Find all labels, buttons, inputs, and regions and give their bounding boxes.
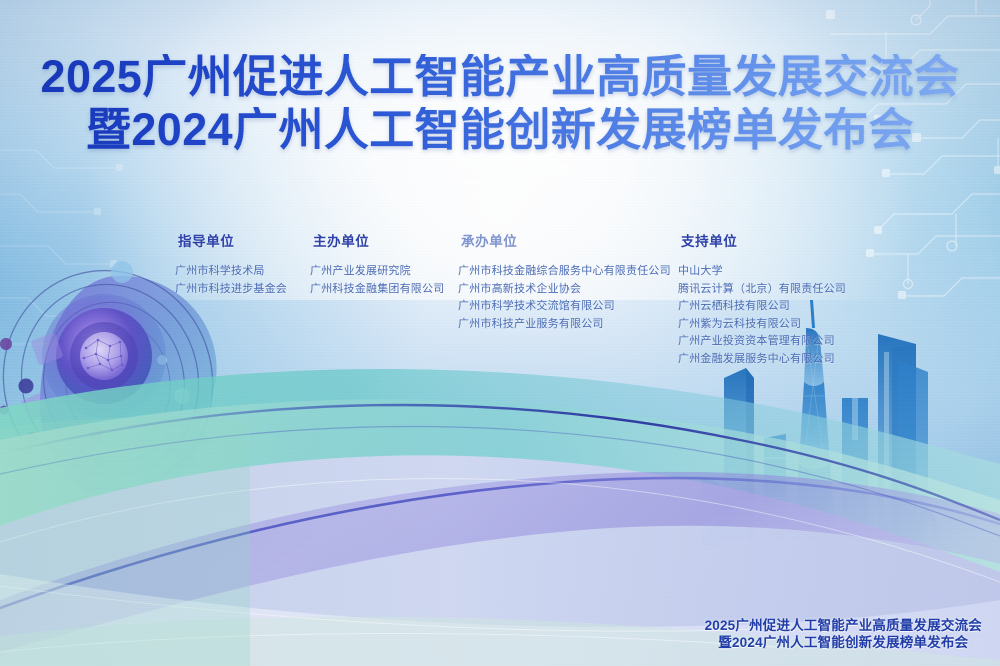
- credits-item: 广州市科学技术交流馆有限公司: [458, 298, 671, 316]
- credits-heading: 主办单位: [310, 230, 444, 250]
- credits-item: 广州产业投资资本管理有限公司: [678, 333, 846, 351]
- credits-heading: 承办单位: [458, 230, 671, 250]
- credits-item: 广州科技金融集团有限公司: [310, 281, 444, 299]
- credits-item: 广州市科技金融综合服务中心有限责任公司: [458, 263, 671, 281]
- event-backdrop: 2025广州促进人工智能产业高质量发展交流会 暨2024广州人工智能创新发展榜单…: [0, 0, 1000, 666]
- credits-item: 广州市科学技术局: [175, 263, 287, 281]
- credits-item: 广州金融发展服务中心有限公司: [678, 351, 846, 369]
- footer-event-title: 2025广州促进人工智能产业高质量发展交流会 暨2024广州人工智能创新发展榜单…: [705, 618, 982, 652]
- credits-item: 中山大学: [678, 263, 846, 281]
- credits-column-co-organizer: 承办单位 广州市科技金融综合服务中心有限责任公司 广州市高新技术企业协会 广州市…: [458, 230, 671, 333]
- credits-item: 广州紫为云科技有限公司: [678, 316, 846, 334]
- credits-heading: 支持单位: [678, 230, 846, 250]
- credits-item: 广州云栖科技有限公司: [678, 298, 846, 316]
- credits-item: 广州产业发展研究院: [310, 263, 444, 281]
- credits-item: 腾讯云计算（北京）有限责任公司: [678, 281, 846, 299]
- credits-item: 广州市科技进步基金会: [175, 281, 287, 299]
- credits-column-organizer: 主办单位 广州产业发展研究院 广州科技金融集团有限公司: [310, 230, 444, 298]
- credits-heading: 指导单位: [175, 230, 287, 250]
- credits-item: 广州市高新技术企业协会: [458, 281, 671, 299]
- credits-block: 指导单位 广州市科学技术局 广州市科技进步基金会 主办单位 广州产业发展研究院 …: [0, 230, 1000, 390]
- title-line-1: 2025广州促进人工智能产业高质量发展交流会: [0, 54, 1000, 101]
- credits-item: 广州市科技产业服务有限公司: [458, 316, 671, 334]
- footer-line-2: 暨2024广州人工智能创新发展榜单发布会: [705, 635, 982, 652]
- event-title: 2025广州促进人工智能产业高质量发展交流会 暨2024广州人工智能创新发展榜单…: [0, 54, 1000, 154]
- credits-column-supporter: 支持单位 中山大学 腾讯云计算（北京）有限责任公司 广州云栖科技有限公司 广州紫…: [678, 230, 846, 368]
- credits-column-guiding: 指导单位 广州市科学技术局 广州市科技进步基金会: [175, 230, 287, 298]
- footer-line-1: 2025广州促进人工智能产业高质量发展交流会: [705, 618, 982, 635]
- title-line-2: 暨2024广州人工智能创新发展榜单发布会: [0, 107, 1000, 154]
